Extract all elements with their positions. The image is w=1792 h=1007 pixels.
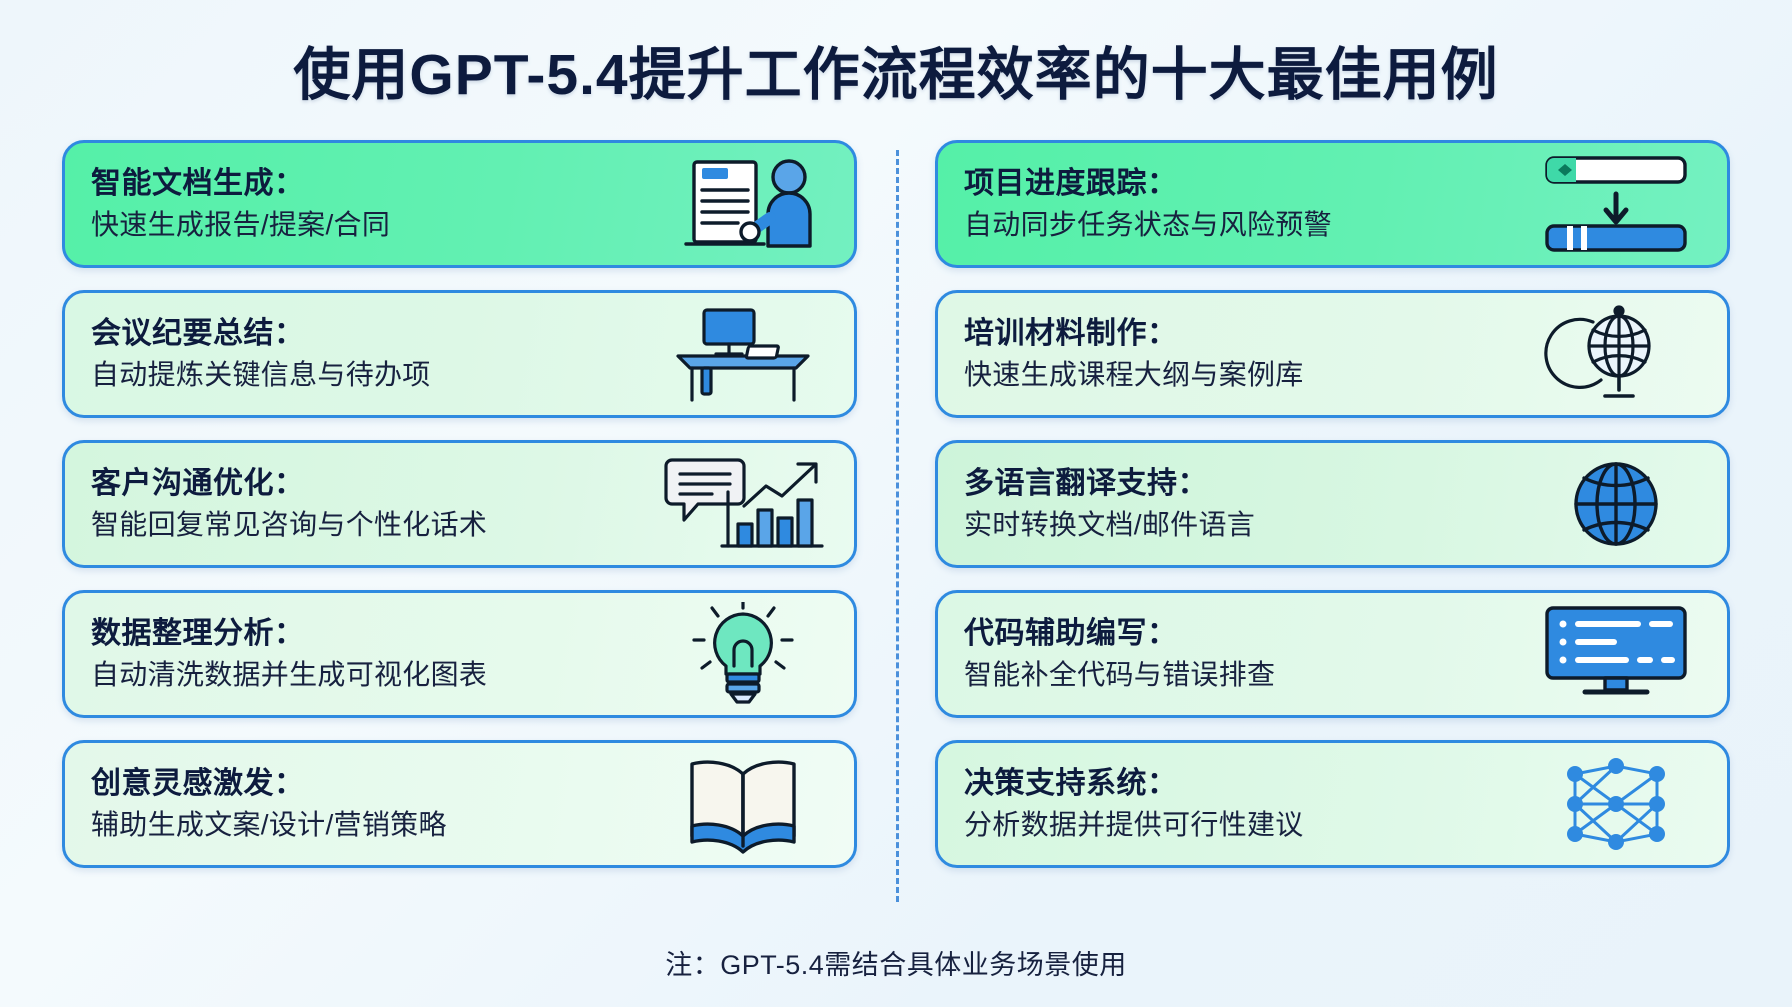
card-text: 多语言翻译支持： 实时转换文档/邮件语言 (964, 467, 1255, 541)
card-text: 数据整理分析： 自动清洗数据并生成可视化图表 (91, 617, 487, 691)
desk-monitor-icon (658, 302, 828, 406)
globe-icon (1531, 452, 1701, 556)
open-book-icon (658, 752, 828, 856)
card-decision-support[interactable]: 决策支持系统： 分析数据并提供可行性建议 (935, 740, 1730, 868)
card-heading: 会议纪要总结： (91, 317, 431, 352)
document-person-icon (658, 152, 828, 256)
card-subtext: 实时转换文档/邮件语言 (964, 509, 1255, 541)
card-text: 决策支持系统： 分析数据并提供可行性建议 (964, 767, 1304, 841)
code-monitor-icon (1531, 602, 1701, 706)
footer-bar: 注：GPT-5.4需结合具体业务场景使用 (0, 920, 1792, 1005)
card-subtext: 快速生成课程大纲与案例库 (964, 359, 1304, 391)
card-subtext: 智能补全代码与错误排查 (964, 659, 1275, 691)
infographic-page: 使用GPT-5.4提升工作流程效率的十大最佳用例 智能文档生成： 快速生成报告/… (0, 0, 1792, 1007)
card-subtext: 快速生成报告/提案/合同 (91, 209, 390, 241)
card-text: 会议纪要总结： 自动提炼关键信息与待办项 (91, 317, 431, 391)
card-translation-support[interactable]: 多语言翻译支持： 实时转换文档/邮件语言 (935, 440, 1730, 568)
card-subtext: 自动清洗数据并生成可视化图表 (91, 659, 487, 691)
card-heading: 创意灵感激发： (91, 767, 447, 802)
card-text: 创意灵感激发： 辅助生成文案/设计/营销策略 (91, 767, 447, 841)
card-text: 智能文档生成： 快速生成报告/提案/合同 (91, 167, 390, 241)
lightbulb-icon (658, 602, 828, 706)
card-text: 培训材料制作： 快速生成课程大纲与案例库 (964, 317, 1304, 391)
footer-note: 注：GPT-5.4需结合具体业务场景使用 (665, 943, 1127, 982)
card-meeting-summary[interactable]: 会议纪要总结： 自动提炼关键信息与待办项 (62, 290, 857, 418)
card-text: 代码辅助编写： 智能补全代码与错误排查 (964, 617, 1275, 691)
cards-area: 智能文档生成： 快速生成报告/提案/合同 (0, 140, 1792, 920)
desk-globe-icon (1531, 302, 1701, 406)
card-heading: 多语言翻译支持： (964, 467, 1255, 502)
card-heading: 培训材料制作： (964, 317, 1304, 352)
card-data-analysis[interactable]: 数据整理分析： 自动清洗数据并生成可视化图表 (62, 590, 857, 718)
card-creative-inspiration[interactable]: 创意灵感激发： 辅助生成文案/设计/营销策略 (62, 740, 857, 868)
card-heading: 决策支持系统： (964, 767, 1304, 802)
title-bar: 使用GPT-5.4提升工作流程效率的十大最佳用例 (0, 0, 1792, 140)
card-text: 项目进度跟踪： 自动同步任务状态与风险预警 (964, 167, 1332, 241)
card-heading: 代码辅助编写： (964, 617, 1275, 652)
right-column: 项目进度跟踪： 自动同步任务状态与风险预警 (935, 140, 1730, 920)
card-customer-communication[interactable]: 客户沟通优化： 智能回复常见咨询与个性化话术 (62, 440, 857, 568)
card-subtext: 辅助生成文案/设计/营销策略 (91, 809, 447, 841)
card-heading: 智能文档生成： (91, 167, 390, 202)
card-subtext: 智能回复常见咨询与个性化话术 (91, 509, 487, 541)
card-heading: 项目进度跟踪： (964, 167, 1332, 202)
card-document-generation[interactable]: 智能文档生成： 快速生成报告/提案/合同 (62, 140, 857, 268)
neural-network-icon (1531, 752, 1701, 856)
card-subtext: 自动提炼关键信息与待办项 (91, 359, 431, 391)
card-heading: 数据整理分析： (91, 617, 487, 652)
card-subtext: 自动同步任务状态与风险预警 (964, 209, 1332, 241)
card-training-materials[interactable]: 培训材料制作： 快速生成课程大纲与案例库 (935, 290, 1730, 418)
progress-bars-arrow-icon (1531, 152, 1701, 256)
card-project-tracking[interactable]: 项目进度跟踪： 自动同步任务状态与风险预警 (935, 140, 1730, 268)
column-divider (896, 150, 899, 902)
card-text: 客户沟通优化： 智能回复常见咨询与个性化话术 (91, 467, 487, 541)
card-subtext: 分析数据并提供可行性建议 (964, 809, 1304, 841)
card-code-assistance[interactable]: 代码辅助编写： 智能补全代码与错误排查 (935, 590, 1730, 718)
left-column: 智能文档生成： 快速生成报告/提案/合同 (62, 140, 857, 920)
card-heading: 客户沟通优化： (91, 467, 487, 502)
page-title: 使用GPT-5.4提升工作流程效率的十大最佳用例 (293, 29, 1498, 111)
chat-bubble-chart-icon (658, 452, 828, 556)
